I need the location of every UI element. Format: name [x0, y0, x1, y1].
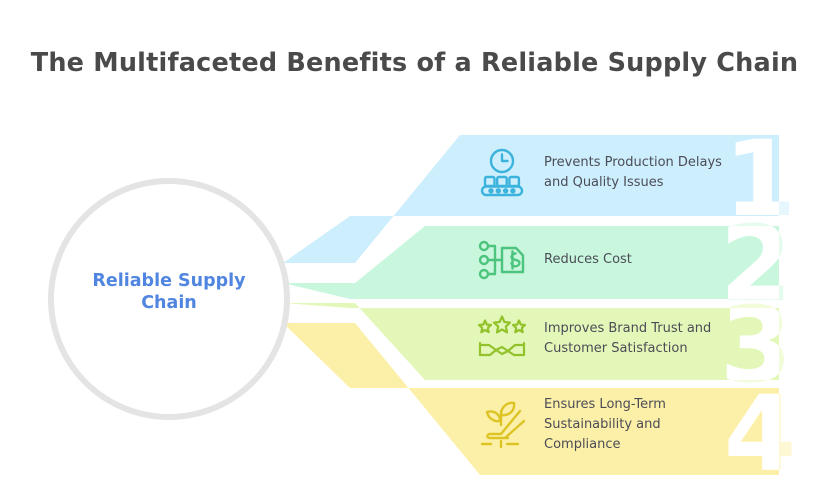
- band-4-text: Ensures Long-Term Sustainability and Com…: [544, 395, 722, 454]
- hub-label: Reliable Supply Chain: [74, 270, 264, 315]
- band-1-content: Prevents Production Delays and Quality I…: [474, 142, 774, 204]
- band-2-text: Reduces Cost: [544, 250, 632, 270]
- cost-network-tag-icon: [474, 232, 530, 288]
- band-3-text: Improves Brand Trust and Customer Satisf…: [544, 319, 722, 359]
- infographic-canvas: The Multifaceted Benefits of a Reliable …: [0, 0, 829, 498]
- band-2-content: Reduces Cost: [474, 232, 774, 288]
- stars-handshake-icon: [474, 311, 530, 367]
- clock-conveyor-belt-icon: [474, 145, 530, 201]
- band-3-content: Improves Brand Trust and Customer Satisf…: [474, 308, 774, 370]
- band-1-text: Prevents Production Delays and Quality I…: [544, 153, 722, 193]
- hub-circle[interactable]: Reliable Supply Chain: [48, 178, 290, 420]
- sprout-hand-icon: [474, 397, 530, 453]
- band-4-content: Ensures Long-Term Sustainability and Com…: [474, 394, 774, 456]
